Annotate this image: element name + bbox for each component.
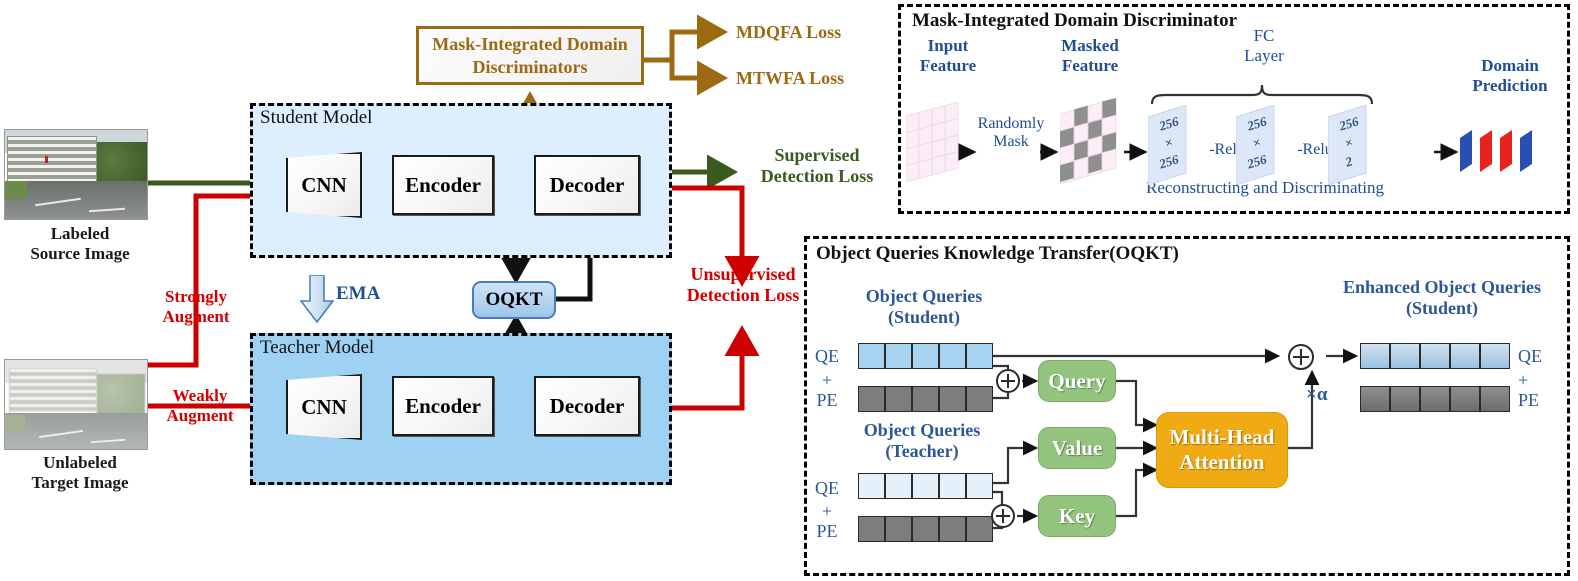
pe-cell (966, 516, 993, 542)
weakly-augment-label: Weakly Augment (144, 386, 256, 425)
labeled-source-image (4, 129, 148, 220)
student-decoder-block[interactable]: Decoder (534, 155, 640, 215)
oqkt-block-label: OQKT (485, 289, 542, 311)
oqkt-block[interactable]: OQKT (472, 281, 556, 319)
object-queries-teacher-label: Object Queries (Teacher) (838, 420, 1006, 461)
multi-head-attention-box[interactable]: Multi-Head Attention (1156, 412, 1288, 488)
teacher-cnn-label: CNN (301, 395, 347, 420)
teacher-decoder-label: Decoder (550, 394, 625, 419)
teacher-cnn-block[interactable]: CNN (286, 374, 362, 440)
supervised-detection-loss-label: Supervised Detection Loss (742, 145, 892, 186)
enhanced-pe-row (1360, 386, 1510, 412)
ema-arrow-icon (300, 275, 334, 323)
teacher-decoder-block[interactable]: Decoder (534, 376, 640, 436)
qe-cell (885, 473, 912, 499)
unlabeled-target-image (4, 359, 148, 450)
strongly-augment-label: Strongly Augment (138, 287, 254, 326)
pe-cell (858, 516, 885, 542)
masked-feature-grid (1060, 98, 1122, 184)
teacher-model-label: Teacher Model (260, 337, 440, 359)
teacher-encoder-block[interactable]: Encoder (392, 376, 494, 436)
teacher-pe-row (858, 516, 993, 542)
student-cnn-label: CNN (301, 173, 347, 198)
qe-cell (1450, 343, 1480, 369)
teacher-sum-icon (991, 504, 1015, 528)
qe-cell (966, 343, 993, 369)
qe-cell (912, 343, 939, 369)
query-box[interactable]: Query (1038, 360, 1116, 402)
mask-integrated-domain-discriminators-box[interactable]: Mask-Integrated Domain Discriminators (416, 26, 644, 85)
qe-cell (1420, 343, 1450, 369)
qe-cell (912, 473, 939, 499)
fc-plate-1-label: 256 × 256 (1148, 108, 1190, 182)
value-box-label: Value (1052, 436, 1103, 461)
student-decoder-label: Decoder (550, 173, 625, 198)
masked-feature-label: Masked Feature (1038, 36, 1142, 75)
enhanced-qe-label: QE (1518, 346, 1558, 367)
mdqfa-loss-label: MDQFA Loss (736, 22, 886, 43)
pe-cell (1450, 386, 1480, 412)
student-sum-icon (996, 369, 1020, 393)
fc-plate-2-label: 256 × 256 (1236, 108, 1278, 182)
pe-cell (885, 516, 912, 542)
input-feature-grid (906, 102, 962, 182)
fc-plate-3-label: 256 × 2 (1328, 108, 1370, 182)
pe-cell (912, 386, 939, 412)
ema-label: EMA (336, 283, 396, 305)
object-queries-student-label: Object Queries (Student) (840, 286, 1008, 327)
oqkt-panel-title: Object Queries Knowledge Transfer(OQKT) (816, 243, 1316, 265)
pe-cell (858, 386, 885, 412)
teacher-qe-label: QE (810, 478, 844, 499)
teacher-qe-row (858, 473, 993, 499)
qe-cell (1360, 343, 1390, 369)
pe-cell (966, 386, 993, 412)
qe-cell (885, 343, 912, 369)
qe-cell (1480, 343, 1510, 369)
teacher-plus-label: + (810, 501, 844, 522)
pe-cell (912, 516, 939, 542)
student-qe-row (858, 343, 993, 369)
key-box[interactable]: Key (1038, 495, 1116, 537)
pe-cell (1420, 386, 1450, 412)
student-pe-label: PE (810, 390, 844, 411)
labeled-source-image-caption: Labeled Source Image (0, 224, 160, 263)
domain-prediction-bars (1458, 130, 1554, 174)
pe-cell (939, 386, 966, 412)
pe-cell (1390, 386, 1420, 412)
domain-prediction-label: Domain Prediction (1450, 56, 1570, 95)
enhanced-pe-label: PE (1518, 390, 1558, 411)
student-encoder-block[interactable]: Encoder (392, 155, 494, 215)
residual-sum-icon (1288, 344, 1314, 370)
fc-layer-label: FC Layer (1228, 26, 1300, 65)
pe-cell (939, 516, 966, 542)
enhanced-qe-row (1360, 343, 1510, 369)
query-box-label: Query (1048, 369, 1105, 394)
unlabeled-target-image-caption: Unlabeled Target Image (0, 453, 160, 492)
student-model-label: Student Model (260, 107, 440, 129)
student-pe-row (858, 386, 993, 412)
multi-head-attention-label: Multi-Head Attention (1157, 425, 1287, 475)
qe-cell (858, 343, 885, 369)
randomly-mask-label: Randomly Mask (962, 115, 1060, 152)
enhanced-object-queries-label: Enhanced Object Queries (Student) (1318, 277, 1566, 318)
student-qe-label: QE (810, 346, 844, 367)
student-encoder-label: Encoder (405, 173, 481, 198)
teacher-pe-label: PE (810, 521, 844, 542)
qe-cell (966, 473, 993, 499)
alpha-scale-label: ×α (1306, 384, 1354, 406)
qe-cell (858, 473, 885, 499)
pe-cell (885, 386, 912, 412)
pe-cell (1360, 386, 1390, 412)
key-box-label: Key (1059, 504, 1095, 529)
qe-cell (939, 473, 966, 499)
input-feature-label: Input Feature (902, 36, 994, 75)
mtwfa-loss-label: MTWFA Loss (736, 68, 886, 89)
midd-box-label: Mask-Integrated Domain Discriminators (419, 33, 641, 78)
qe-cell (939, 343, 966, 369)
unsupervised-detection-loss-label: Unsupervised Detection Loss (665, 264, 821, 305)
pe-cell (1480, 386, 1510, 412)
value-box[interactable]: Value (1038, 427, 1116, 469)
student-plus-label: + (810, 370, 844, 391)
qe-cell (1390, 343, 1420, 369)
enhanced-plus-label: + (1518, 370, 1558, 391)
teacher-encoder-label: Encoder (405, 394, 481, 419)
student-cnn-block[interactable]: CNN (286, 152, 362, 218)
